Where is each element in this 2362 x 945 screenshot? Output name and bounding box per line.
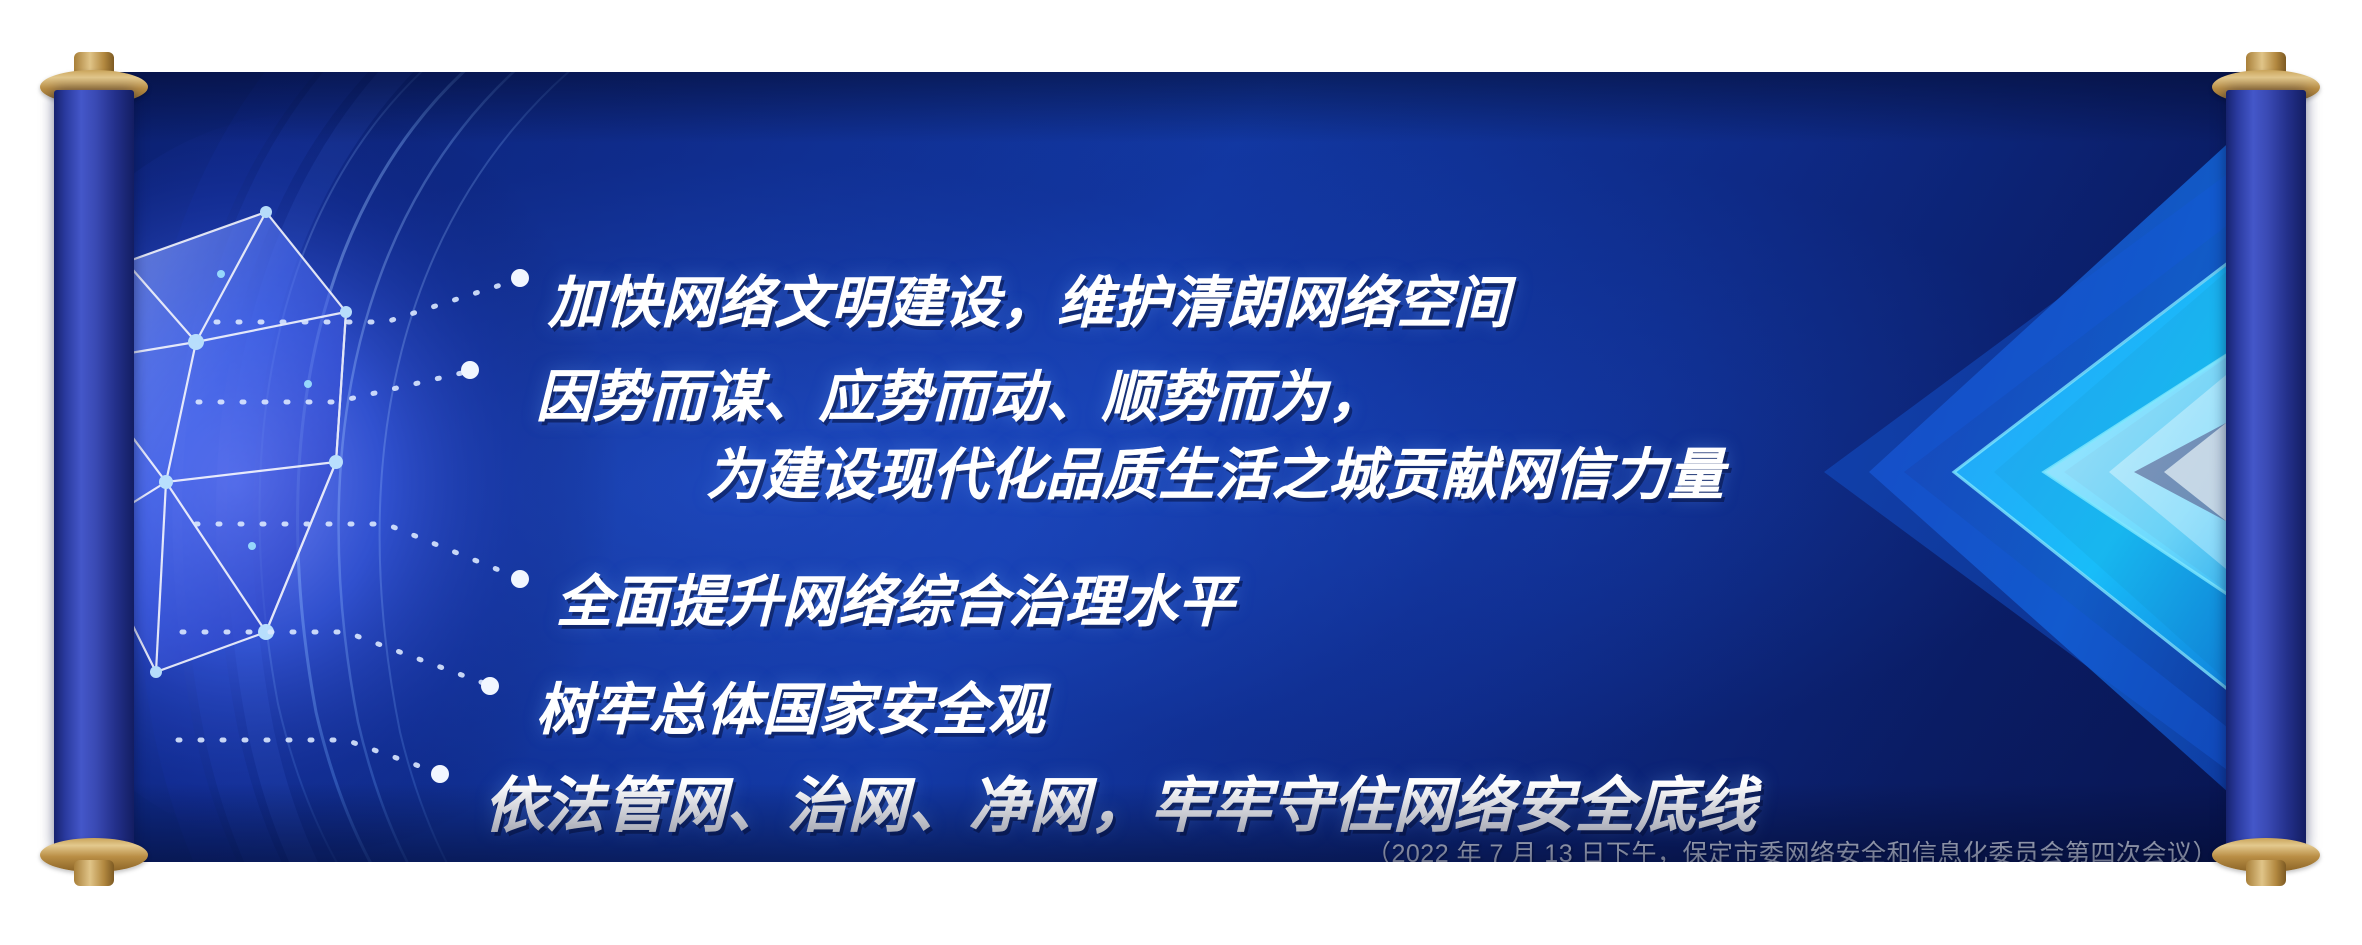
slogan-line-2a: 因势而谋、应势而动、顺势而为， (536, 352, 1384, 433)
roller-body-left (54, 90, 134, 850)
roller-knob-bottom-left (74, 860, 114, 886)
scroll-roller-left-icon (40, 52, 148, 888)
scroll-roller-right-icon (2212, 52, 2320, 888)
slogan-line-3: 全面提升网络综合治理水平 (556, 557, 1235, 638)
roller-body-right (2226, 90, 2306, 850)
slogan-line-2b: 为建设现代化品质生活之城贡献网信力量 (706, 430, 1724, 511)
slogan-list: 加快网络文明建设，维护清朗网络空间 因势而谋、应势而动、顺势而为， 为建设现代化… (86, 72, 2276, 862)
meeting-footnote: （2022 年 7 月 13 日下午，保定市委网络安全和信息化委员会第四次会议） (1366, 834, 2146, 862)
slogan-line-1: 加快网络文明建设，维护清朗网络空间 (548, 258, 1510, 339)
banner-stage: 加快网络文明建设，维护清朗网络空间 因势而谋、应势而动、顺势而为， 为建设现代化… (0, 0, 2362, 945)
scroll-panel: 加快网络文明建设，维护清朗网络空间 因势而谋、应势而动、顺势而为， 为建设现代化… (86, 72, 2276, 862)
slogan-line-5: 依法管网、治网、净网，牢牢守住网络安全底线 (484, 757, 1757, 844)
slogan-line-4: 树牢总体国家安全观 (536, 665, 1045, 746)
roller-knob-bottom-right (2246, 860, 2286, 886)
